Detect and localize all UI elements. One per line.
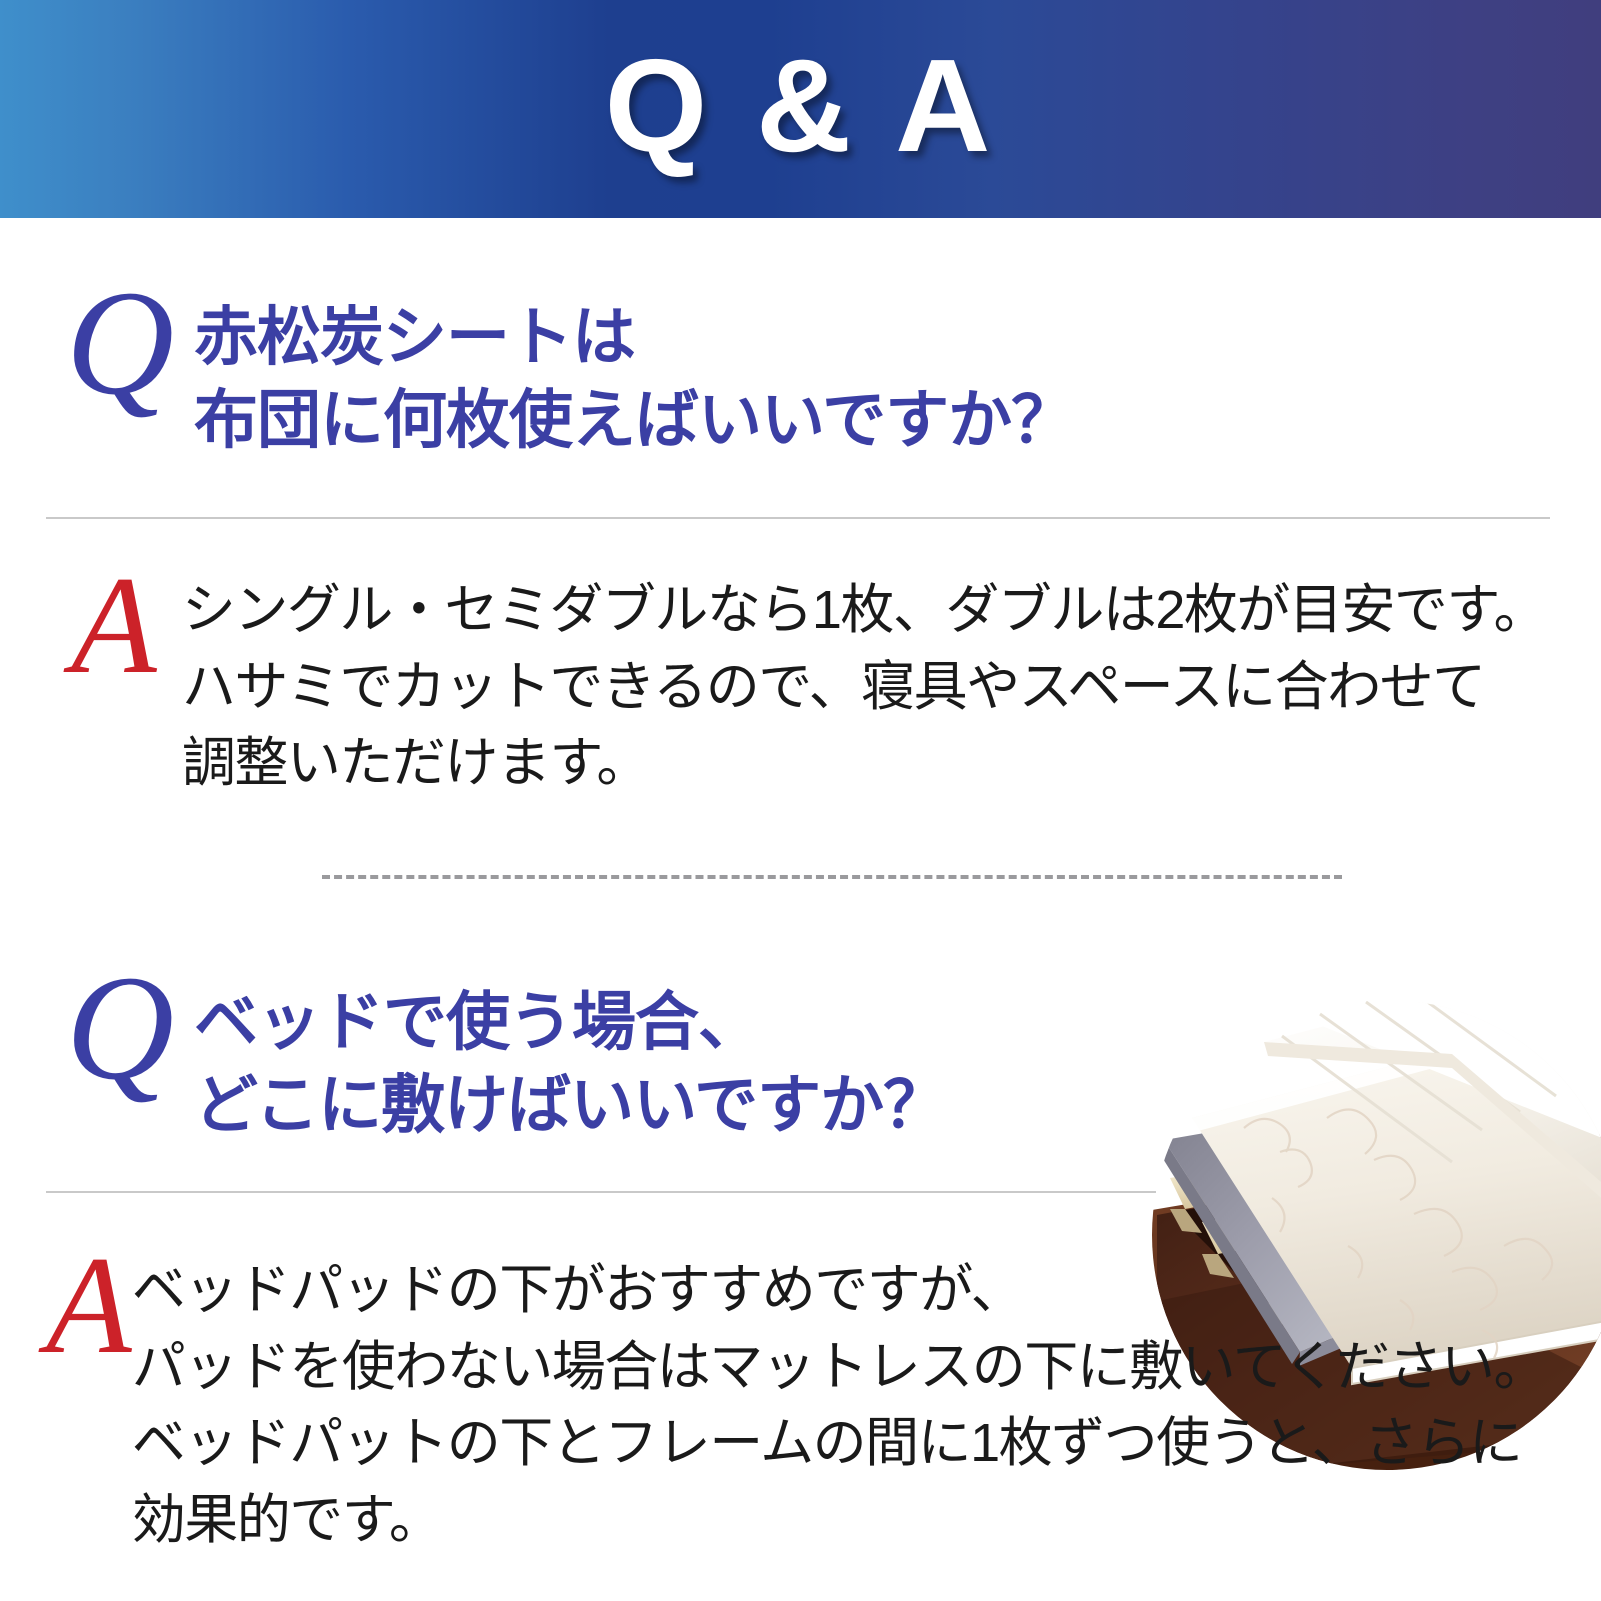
question-line: どこに敷けばいいですか？	[194, 1064, 946, 1147]
answer-line: シングル・セミダブルなら1枚、ダブルは2枚が目安です。	[182, 572, 1546, 649]
question-text-2: ベッドで使う場合、 どこに敷けばいいですか？	[194, 953, 946, 1147]
answer-block-1: A シングル・セミダブルなら1枚、ダブルは2枚が目安です。 ハサミでカットできる…	[46, 556, 1546, 802]
header-banner: Q & A	[0, 0, 1601, 218]
question-line: 赤松炭シートは	[194, 296, 1074, 379]
answer-line: ベッドパットの下とフレームの間に1枚ずつ使うと、さらに	[132, 1405, 1546, 1482]
answer-marker-icon: A	[46, 1236, 132, 1376]
question-marker-icon: Q	[46, 268, 194, 418]
page-title: Q & A	[605, 40, 997, 178]
question-marker-icon: Q	[46, 953, 194, 1103]
section-divider-2	[46, 1191, 1156, 1193]
answer-text-2: ベッドパッドの下がおすすめですが、 パッドを使わない場合はマットレスの下に敷いて…	[132, 1236, 1546, 1559]
answer-line: ベッドパッドの下がおすすめですが、	[132, 1252, 1546, 1329]
answer-line: 調整いただけます。	[182, 725, 1546, 802]
question-block-2: Q ベッドで使う場合、 どこに敷けばいいですか？	[46, 953, 1196, 1147]
answer-line: 効果的です。	[132, 1482, 1546, 1559]
question-block-1: Q 赤松炭シートは 布団に何枚使えばいいですか？	[46, 268, 1546, 462]
qa-content: Q 赤松炭シートは 布団に何枚使えばいいですか？ A シングル・セミダブルなら1…	[0, 218, 1601, 1601]
dashed-separator	[322, 875, 1342, 879]
section-divider-1	[46, 517, 1550, 519]
answer-block-2: A ベッドパッドの下がおすすめですが、 パッドを使わない場合はマットレスの下に敷…	[46, 1236, 1546, 1559]
question-line: 布団に何枚使えばいいですか？	[194, 379, 1074, 462]
answer-text-1: シングル・セミダブルなら1枚、ダブルは2枚が目安です。 ハサミでカットできるので…	[182, 556, 1546, 802]
question-text-1: 赤松炭シートは 布団に何枚使えばいいですか？	[194, 268, 1074, 462]
question-line: ベッドで使う場合、	[194, 981, 946, 1064]
answer-marker-icon: A	[46, 556, 182, 696]
answer-line: ハサミでカットできるので、寝具やスペースに合わせて	[182, 649, 1546, 726]
answer-line: パッドを使わない場合はマットレスの下に敷いてください。	[132, 1329, 1546, 1406]
